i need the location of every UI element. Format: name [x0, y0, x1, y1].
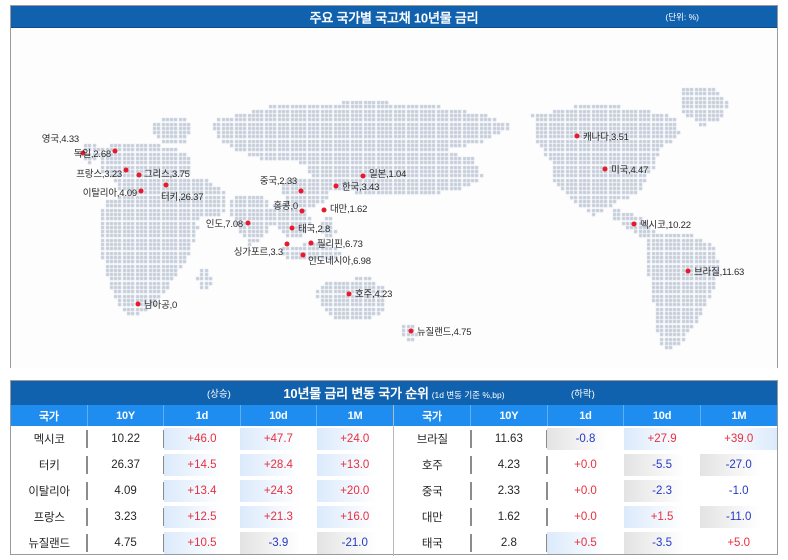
cell-10y: 2.8: [471, 530, 548, 556]
cell-1m-value: +20.0: [340, 485, 369, 497]
table-row[interactable]: 대만1.62+0.0+1.5-11.0: [394, 504, 777, 530]
cell-10d-value: -3.5: [652, 537, 672, 549]
table-row[interactable]: 태국2.8+0.5-3.5+5.0: [394, 530, 777, 556]
cell-10d-value: -3.9: [268, 537, 288, 549]
cell-1d: +10.5: [164, 530, 240, 556]
cell-1m: -27.0: [700, 452, 777, 478]
cell-1m: +39.0: [700, 426, 777, 452]
cell-country: 뉴질랜드: [11, 530, 87, 556]
cell-1d-value: +10.5: [187, 537, 216, 549]
cell-10d: -3.9: [240, 530, 316, 556]
cell-10d-value: +24.3: [264, 485, 293, 497]
map-label-미국: 미국,4.47: [611, 162, 648, 176]
cell-1d-value: +12.5: [187, 511, 216, 523]
cell-1d-value: +0.5: [574, 537, 597, 549]
col-1d[interactable]: 1d: [164, 405, 240, 426]
col-1m[interactable]: 1M: [700, 405, 777, 426]
map-label-싱가포르: 싱가포르,3.3: [234, 244, 283, 258]
rank-title: 10년물 금리 변동 국가 순위(1d 변동 기준 %,bp): [11, 383, 777, 403]
cell-10d: -3.5: [624, 530, 701, 556]
cell-10y: 4.23: [471, 452, 548, 478]
cell-10d-value: -2.3: [652, 485, 672, 497]
fall-table: 국가 10Y 1d 10d 1M 브라질11.63-0.8+27.9+39.0호…: [394, 405, 777, 556]
cell-10d-value: -5.5: [652, 459, 672, 471]
map-label-터키: 터키,26.37: [161, 189, 203, 203]
cell-10y: 4.75: [87, 530, 163, 556]
table-row[interactable]: 호주4.23+0.0-5.5-27.0: [394, 452, 777, 478]
cell-1m-value: +39.0: [724, 433, 753, 445]
table-row[interactable]: 멕시코10.22+46.0+47.7+24.0: [11, 426, 393, 452]
cell-1m: +24.0: [317, 426, 393, 452]
rank-panel: (상승) 10년물 금리 변동 국가 순위(1d 변동 기준 %,bp) (하락…: [10, 380, 778, 555]
map-pin-멕시코[interactable]: [632, 222, 637, 227]
map-pin-남아공[interactable]: [136, 302, 141, 307]
cell-1m-value: -27.0: [726, 459, 752, 471]
cell-1m-value: -21.0: [342, 537, 368, 549]
map-pin-프랑스[interactable]: [124, 168, 129, 173]
map-label-이탈리아: 이탈리아,4.09: [83, 185, 137, 199]
col-1d[interactable]: 1d: [547, 405, 624, 426]
cell-1d-value: -0.8: [576, 433, 596, 445]
cell-1m: +13.0: [317, 452, 393, 478]
unit-label: (단위: %): [665, 11, 699, 23]
map-pin-인도[interactable]: [246, 221, 251, 226]
fall-table-body: 브라질11.63-0.8+27.9+39.0호주4.23+0.0-5.5-27.…: [394, 426, 777, 556]
cell-1d: -0.8: [547, 426, 624, 452]
map-pin-터키[interactable]: [164, 183, 169, 188]
cell-1d: +14.5: [164, 452, 240, 478]
col-10d[interactable]: 10d: [624, 405, 701, 426]
cell-10y: 11.63: [471, 426, 548, 452]
table-row[interactable]: 프랑스3.23+12.5+21.3+16.0: [11, 504, 393, 530]
cell-10d: +21.3: [240, 504, 316, 530]
fall-table-head: 국가 10Y 1d 10d 1M: [394, 405, 777, 426]
cell-10y: 26.37: [87, 452, 163, 478]
map-label-독일: 독일,2.68: [74, 146, 111, 160]
cell-country: 멕시코: [11, 426, 87, 452]
cell-10y: 3.23: [87, 504, 163, 530]
col-10y[interactable]: 10Y: [471, 405, 548, 426]
map-pin-한국[interactable]: [334, 184, 339, 189]
cell-10d: -2.3: [624, 478, 701, 504]
table-row[interactable]: 터키26.37+14.5+28.4+13.0: [11, 452, 393, 478]
cell-10y: 1.62: [471, 504, 548, 530]
world-map: 영국,4.33독일,2.68프랑스,3.23그리스,3.75이탈리아,4.09터…: [11, 28, 777, 368]
rise-table-container: 국가 10Y 1d 10d 1M 멕시코10.22+46.0+47.7+24.0…: [11, 405, 394, 556]
table-row[interactable]: 이탈리아4.09+13.4+24.3+20.0: [11, 478, 393, 504]
map-label-브라질: 브라질,11.63: [694, 264, 744, 278]
cell-10d: +28.4: [240, 452, 316, 478]
map-pin-호주[interactable]: [347, 292, 352, 297]
map-pin-브라질[interactable]: [686, 269, 691, 274]
map-label-중국: 중국,2.33: [260, 173, 297, 187]
cell-10d-value: +21.3: [264, 511, 293, 523]
cell-country: 프랑스: [11, 504, 87, 530]
map-pin-홍콩[interactable]: [300, 209, 305, 214]
cell-10d: +47.7: [240, 426, 316, 452]
map-pin-필리핀[interactable]: [309, 241, 314, 246]
cell-1m-value: +5.0: [727, 537, 750, 549]
cell-1d: +46.0: [164, 426, 240, 452]
map-label-인도: 인도,7.08: [206, 216, 243, 230]
cell-1d-value: +46.0: [187, 433, 216, 445]
cell-10d: +24.3: [240, 478, 316, 504]
rise-table-body: 멕시코10.22+46.0+47.7+24.0터키26.37+14.5+28.4…: [11, 426, 393, 556]
map-pin-대만[interactable]: [322, 208, 327, 213]
cell-1m: -21.0: [317, 530, 393, 556]
rise-header-row: 국가 10Y 1d 10d 1M: [11, 405, 393, 426]
cell-1d-value: +0.0: [574, 459, 597, 471]
map-label-태국: 태국,2.8: [298, 221, 330, 235]
cell-1d: +0.0: [547, 452, 624, 478]
cell-1m: -1.0: [700, 478, 777, 504]
map-pin-일본[interactable]: [361, 174, 366, 179]
cell-1d: +0.0: [547, 504, 624, 530]
col-country[interactable]: 국가: [11, 405, 87, 426]
map-title-bar: 주요 국가별 국고채 10년물 금리 (단위: %): [11, 6, 777, 28]
table-row[interactable]: 브라질11.63-0.8+27.9+39.0: [394, 426, 777, 452]
map-label-홍콩: 홍콩,0: [273, 198, 298, 212]
map-pin-태국[interactable]: [290, 226, 295, 231]
map-label-캐나다: 캐나다,3.51: [583, 129, 629, 143]
cell-country: 터키: [11, 452, 87, 478]
cell-country: 브라질: [394, 426, 471, 452]
map-pin-인도네시아[interactable]: [301, 253, 306, 258]
cell-10d: +1.5: [624, 504, 701, 530]
page-title: 주요 국가별 국고채 10년물 금리: [11, 7, 777, 26]
cell-10d-value: +27.9: [648, 433, 677, 445]
cell-10d-value: +47.7: [264, 433, 293, 445]
map-pin-뉴질랜드[interactable]: [409, 329, 414, 334]
fall-header-row: 국가 10Y 1d 10d 1M: [394, 405, 777, 426]
table-row[interactable]: 뉴질랜드4.75+10.5-3.9-21.0: [11, 530, 393, 556]
map-label-호주: 호주,4.23: [355, 286, 392, 300]
map-pin-미국[interactable]: [603, 167, 608, 172]
map-panel: 주요 국가별 국고채 10년물 금리 (단위: %) 영국,4.33독일,2.6…: [10, 5, 778, 368]
map-pin-싱가포르[interactable]: [285, 242, 290, 247]
map-label-프랑스: 프랑스,3.23: [76, 166, 122, 180]
map-label-남아공: 남아공,0: [144, 297, 177, 311]
map-pin-이탈리아[interactable]: [139, 189, 144, 194]
table-row[interactable]: 중국2.33+0.0-2.3-1.0: [394, 478, 777, 504]
cell-1d: +12.5: [164, 504, 240, 530]
map-pin-캐나다[interactable]: [575, 134, 580, 139]
rank-title-sub: (1d 변동 기준 %,bp): [432, 390, 505, 400]
cell-country: 이탈리아: [11, 478, 87, 504]
map-label-그리스: 그리스,3.75: [144, 166, 190, 180]
cell-10d-value: +1.5: [651, 511, 674, 523]
cell-10y: 4.09: [87, 478, 163, 504]
fall-table-container: 국가 10Y 1d 10d 1M 브라질11.63-0.8+27.9+39.0호…: [394, 405, 777, 556]
map-label-일본: 일본,1.04: [369, 166, 406, 180]
cell-1m-value: +13.0: [340, 459, 369, 471]
cell-10d: -5.5: [624, 452, 701, 478]
cell-1m: +16.0: [317, 504, 393, 530]
map-label-한국: 한국,3.43: [342, 179, 379, 193]
cell-10d: +27.9: [624, 426, 701, 452]
fall-label: (하락): [571, 386, 595, 400]
cell-country: 중국: [394, 478, 471, 504]
col-10d[interactable]: 10d: [240, 405, 316, 426]
cell-1d-value: +13.4: [187, 485, 216, 497]
map-pin-중국[interactable]: [299, 189, 304, 194]
cell-1m-value: +24.0: [340, 433, 369, 445]
cell-1d-value: +14.5: [187, 459, 216, 471]
map-label-필리핀: 필리핀,6.73: [317, 236, 363, 250]
cell-1d: +13.4: [164, 478, 240, 504]
cell-1m: -11.0: [700, 504, 777, 530]
map-pin-그리스[interactable]: [137, 173, 142, 178]
cell-1d-value: +0.0: [574, 511, 597, 523]
cell-10d-value: +28.4: [264, 459, 293, 471]
cell-10y: 10.22: [87, 426, 163, 452]
cell-1m-value: +16.0: [340, 511, 369, 523]
cell-country: 호주: [394, 452, 471, 478]
map-label-멕시코: 멕시코,10.22: [640, 217, 691, 231]
map-label-대만: 대만,1.62: [330, 201, 367, 215]
cell-country: 태국: [394, 530, 471, 556]
cell-1m-value: -1.0: [729, 485, 749, 497]
cell-1d: +0.5: [547, 530, 624, 556]
col-1m[interactable]: 1M: [317, 405, 393, 426]
rise-table-head: 국가 10Y 1d 10d 1M: [11, 405, 393, 426]
cell-1d-value: +0.0: [574, 485, 597, 497]
map-label-뉴질랜드: 뉴질랜드,4.75: [417, 324, 471, 338]
cell-1m-value: -11.0: [726, 511, 751, 523]
col-10y[interactable]: 10Y: [87, 405, 163, 426]
cell-country: 대만: [394, 504, 471, 530]
rise-table: 국가 10Y 1d 10d 1M 멕시코10.22+46.0+47.7+24.0…: [11, 405, 393, 556]
map-pin-독일[interactable]: [113, 149, 118, 154]
cell-10y: 2.33: [471, 478, 548, 504]
rank-tables: 국가 10Y 1d 10d 1M 멕시코10.22+46.0+47.7+24.0…: [11, 405, 777, 556]
rank-title-main: 10년물 금리 변동 국가 순위: [283, 386, 428, 401]
cell-1m: +20.0: [317, 478, 393, 504]
map-label-인도네시아: 인도네시아,6.98: [308, 253, 371, 267]
map-label-영국: 영국,4.33: [42, 131, 79, 145]
cell-1m: +5.0: [700, 530, 777, 556]
rank-title-bar: (상승) 10년물 금리 변동 국가 순위(1d 변동 기준 %,bp) (하락…: [11, 381, 777, 405]
col-country[interactable]: 국가: [394, 405, 471, 426]
cell-1d: +0.0: [547, 478, 624, 504]
